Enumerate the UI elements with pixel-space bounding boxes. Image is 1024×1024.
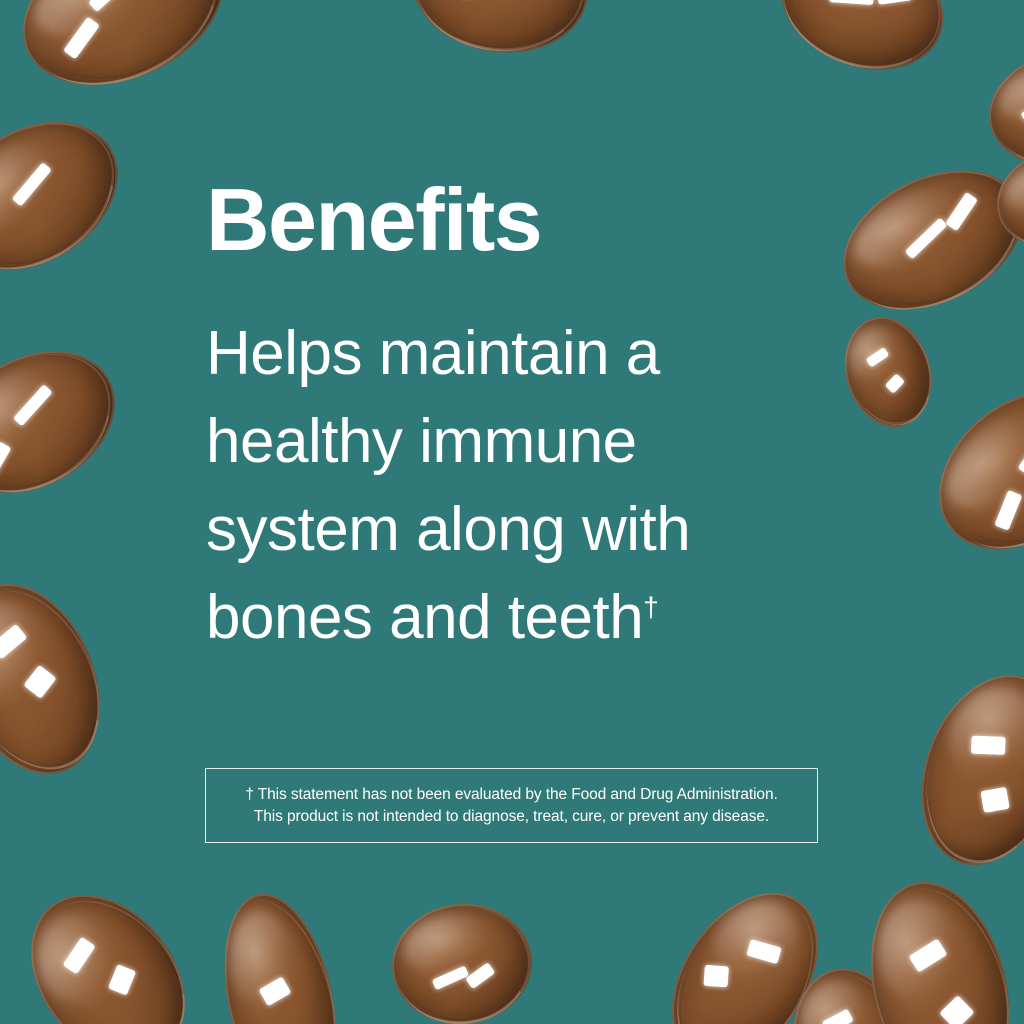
- fda-disclaimer-line-2: This product is not intended to diagnose…: [254, 808, 769, 825]
- fda-disclaimer-box: † This statement has not been evaluated …: [205, 768, 818, 843]
- page-title: Benefits: [206, 176, 541, 264]
- footnote-marker: †: [643, 591, 658, 622]
- product-benefits-card: Benefits Helps maintain a healthy immune…: [0, 0, 1024, 1024]
- benefit-statement-text: Helps maintain a healthy immune system a…: [206, 319, 690, 652]
- benefit-statement: Helps maintain a healthy immune system a…: [206, 310, 826, 662]
- fda-disclaimer-line-1: † This statement has not been evaluated …: [245, 786, 777, 803]
- fda-disclaimer-text: † This statement has not been evaluated …: [235, 784, 787, 828]
- content-layer: Benefits Helps maintain a healthy immune…: [0, 0, 1024, 1024]
